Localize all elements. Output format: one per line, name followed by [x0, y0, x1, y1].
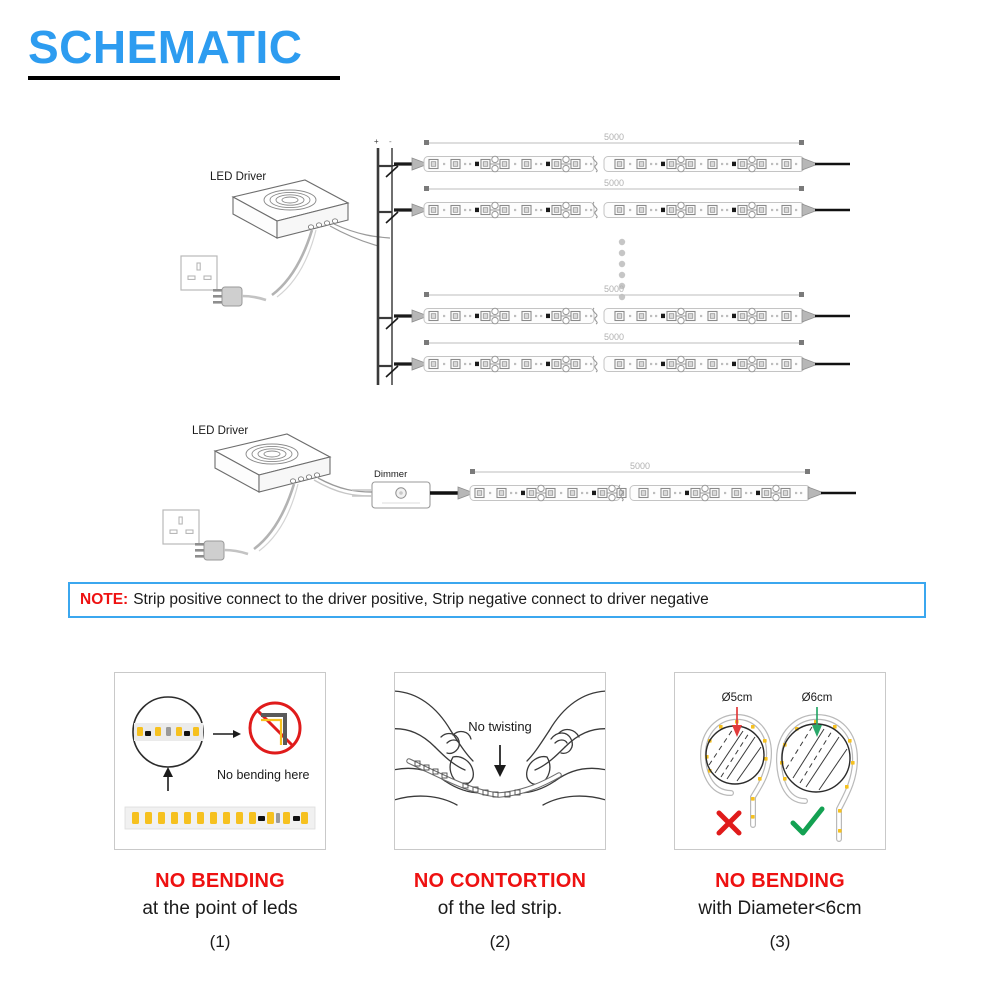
- panel-2-figure: No twisting: [394, 672, 606, 850]
- strip-row-2: 5000: [378, 178, 850, 223]
- warning-panel-1: No bending here: [114, 672, 326, 952]
- panel-2-title: NO CONTORTION: [414, 871, 586, 892]
- dimmer-label: Dimmer: [374, 469, 407, 480]
- strip-length-label-4: 5000: [604, 332, 624, 342]
- panel-1-subtitle: at the point of leds: [142, 898, 297, 920]
- led-driver-unit-parallel: [233, 180, 390, 297]
- warning-panel-3: Ø5cm: [674, 672, 886, 952]
- dimmer-module: [352, 482, 430, 508]
- led-driver-unit-dimmer: [215, 434, 372, 551]
- strip-length-label-1: 5000: [604, 132, 624, 142]
- panel-2-index: (2): [490, 932, 511, 952]
- note-box: NOTE: Strip positive connect to the driv…: [68, 582, 926, 618]
- led-driver-label-dimmer: LED Driver: [192, 425, 248, 437]
- panel-2-subtitle: of the led strip.: [438, 898, 563, 920]
- strip-row-dimmer: 5000: [430, 461, 856, 501]
- panel-1-figure: No bending here: [114, 672, 326, 850]
- bus-positive-marker: +: [374, 137, 379, 146]
- panel-1-index: (1): [210, 932, 231, 952]
- panel-3-label-right: Ø6cm: [802, 692, 833, 704]
- strip-length-label-2: 5000: [604, 178, 624, 188]
- panel-3-index: (3): [770, 932, 791, 952]
- panel-2-inner-caption: No twisting: [468, 719, 532, 734]
- panel-3-title: NO BENDING: [715, 871, 845, 892]
- power-plug-parallel: [213, 287, 266, 306]
- power-plug-dimmer: [195, 541, 248, 560]
- panel-3-subtitle: with Diameter<6cm: [698, 898, 861, 920]
- note-text: Strip positive connect to the driver pos…: [133, 591, 709, 609]
- check-icon: [793, 809, 822, 833]
- panel-1-title: NO BENDING: [155, 871, 285, 892]
- strip-row-3: 5000: [378, 284, 850, 329]
- wall-socket-parallel: [181, 256, 217, 290]
- strip-row-4: 5000: [378, 332, 850, 377]
- loop-5cm: Ø5cm: [703, 692, 769, 825]
- bus-bar-positive: +: [374, 137, 379, 385]
- note-label: NOTE:: [80, 591, 128, 609]
- panel-3-figure: Ø5cm: [674, 672, 886, 850]
- page-title: SCHEMATIC: [28, 24, 340, 70]
- panel-3-label-left: Ø5cm: [722, 692, 753, 704]
- led-driver-label-parallel: LED Driver: [210, 171, 266, 183]
- title-underline-rule: [28, 76, 340, 80]
- panel-1-inner-caption: No bending here: [217, 768, 309, 782]
- warning-panel-2: No twisting NO CONTORTION of the led str…: [394, 672, 606, 952]
- wall-socket-dimmer: [163, 510, 199, 544]
- cross-icon: [719, 813, 739, 833]
- strip-row-1: 5000: [378, 132, 850, 177]
- title-block: SCHEMATIC: [28, 24, 340, 80]
- warning-panels: No bending here: [0, 672, 1000, 952]
- strip-length-label-3: 5000: [604, 284, 624, 294]
- strip-length-label-dimmer: 5000: [630, 461, 650, 471]
- schematic-diagram: LED Driver + -: [0, 120, 1000, 570]
- bus-negative-marker: -: [389, 137, 392, 146]
